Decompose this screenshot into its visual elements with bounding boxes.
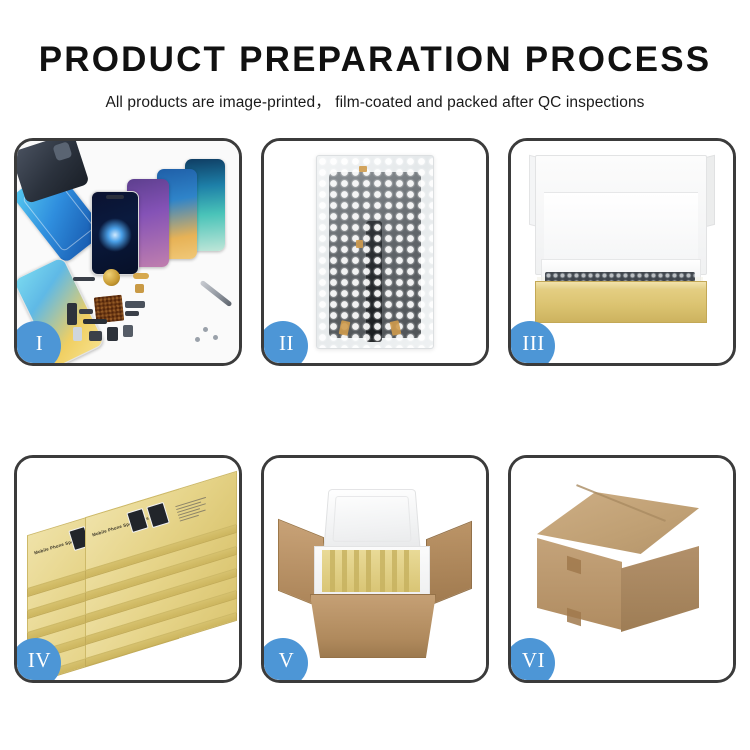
screw-part [203,327,208,332]
packed-retail-boxes [322,550,420,592]
step-number-badge: I [14,321,61,366]
screen-graphic [98,218,132,252]
speaker-coil-part [103,269,120,286]
bubble-texture [317,156,433,348]
flex-cable-part [79,309,93,314]
process-step-5: V [261,455,489,683]
process-step-4: Mobile Phone Spare Parts [14,455,242,683]
phone-back-housing [17,141,90,204]
step-number-badge: II [261,321,308,366]
carton-body [310,594,436,658]
small-component-part [73,327,82,341]
header: PRODUCT PREPARATION PROCESS All products… [0,0,750,112]
step-panel: V [261,455,489,683]
step-panel: III [508,138,736,366]
step-panel: Mobile Phone Spare Parts [14,455,242,683]
page-title: PRODUCT PREPARATION PROCESS [0,42,750,77]
step-panel: VI [508,455,736,683]
step-number-badge: IV [14,638,61,683]
flex-cable-part [135,284,144,293]
bubble-wrap-bag [316,155,434,349]
product-preparation-infographic: PRODUCT PREPARATION PROCESS All products… [0,0,750,750]
flex-cable-part [125,301,145,308]
process-step-1: I [14,138,242,366]
step-number-badge: V [261,638,308,683]
screw-part [195,337,200,342]
box-stack: Mobile Phone Spare Parts [23,478,235,668]
small-component-part [83,319,107,324]
small-component-part [107,327,118,341]
step-panel: II [261,138,489,366]
page-subtitle: All products are image-printed， film-coa… [0,90,750,112]
small-component-part [89,331,102,341]
flex-cable-part [125,311,139,316]
flex-cable-part [67,303,77,325]
small-component-part [123,325,133,337]
foam-box-lid [323,489,420,550]
step-number-badge: III [508,321,555,366]
carton-right-face [621,546,699,632]
tape-piece [356,240,363,248]
process-step-2: II [261,138,489,366]
box-lid-back [535,155,707,275]
process-step-6: VI [508,455,736,683]
kraft-box-base [535,281,707,323]
tape-piece [359,166,367,172]
screw-part [213,335,218,340]
flex-cable-part [73,277,95,281]
step-number-badge: VI [508,638,555,683]
flex-cable-part [133,273,149,279]
screwdriver-tool [199,280,232,307]
process-step-3: III [508,138,736,366]
phone-notch [106,195,124,199]
step-panel: I [14,138,242,366]
process-step-grid: I II [14,138,736,683]
phone-screen-dark [91,191,139,275]
